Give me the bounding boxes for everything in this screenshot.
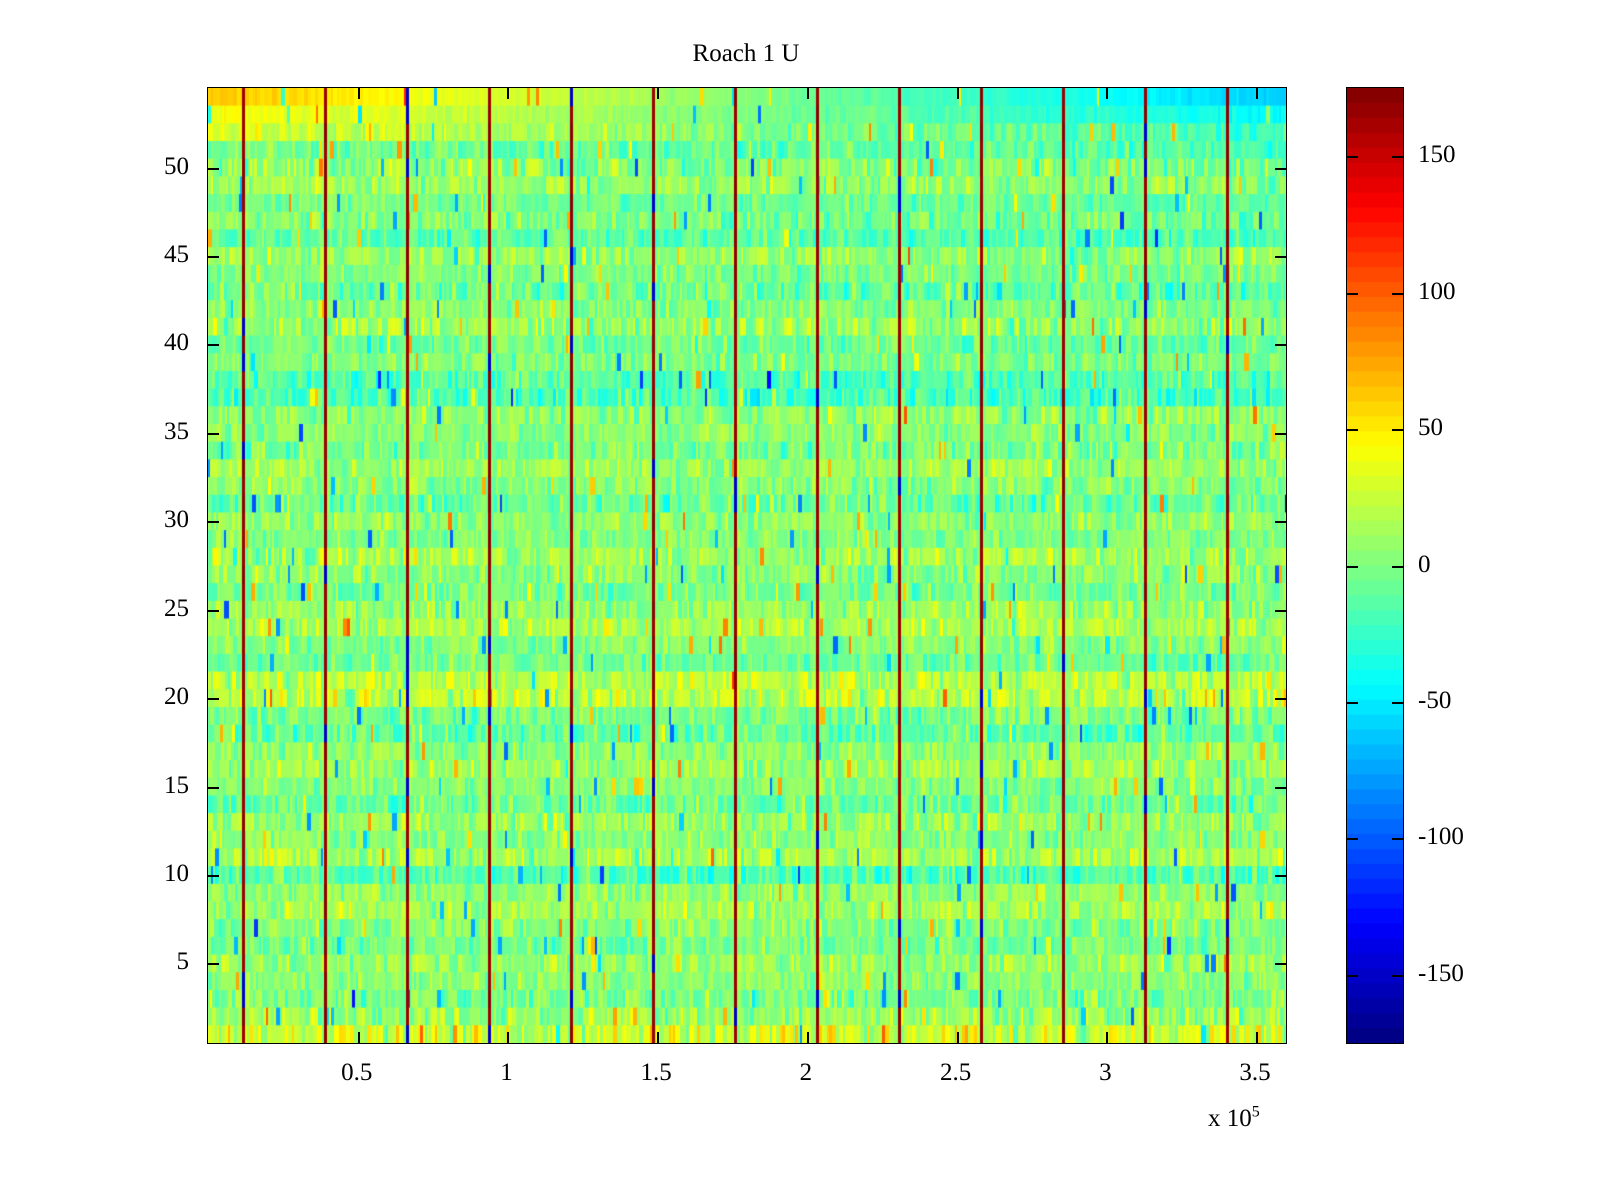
x-tick-mark-top — [807, 88, 809, 99]
y-tick-mark-right — [1275, 610, 1286, 612]
x-tick-mark-top — [358, 88, 360, 99]
x-tick-mark — [957, 1032, 959, 1043]
colorbar-tick-mark-right — [1392, 838, 1403, 840]
colorbar-tick-label: 50 — [1418, 415, 1443, 440]
figure-canvas: Roach 1 U 5101520253035404550 0.511.522.… — [0, 0, 1600, 1200]
colorbar-tick-mark-right — [1392, 566, 1403, 568]
y-tick-mark-right — [1275, 875, 1286, 877]
y-tick-label: 15 — [69, 773, 189, 798]
y-tick-mark-right — [1275, 787, 1286, 789]
y-tick-label: 50 — [69, 154, 189, 179]
x-tick-label: 1 — [446, 1060, 566, 1085]
x-tick-label: 1.5 — [596, 1060, 716, 1085]
colorbar-tick-mark — [1347, 975, 1358, 977]
y-tick-label: 25 — [69, 596, 189, 621]
x-tick-mark — [657, 1032, 659, 1043]
x-tick-label: 2 — [746, 1060, 866, 1085]
colorbar-tick-label: 100 — [1418, 279, 1456, 304]
x-tick-mark-top — [507, 88, 509, 99]
colorbar-tick-mark — [1347, 429, 1358, 431]
y-tick-mark — [208, 521, 219, 523]
colorbar-tick-mark — [1347, 156, 1358, 158]
y-tick-mark-right — [1275, 256, 1286, 258]
colorbar-tick-label: -100 — [1418, 824, 1464, 849]
y-tick-mark-right — [1275, 168, 1286, 170]
y-tick-mark — [208, 875, 219, 877]
x-tick-mark — [358, 1032, 360, 1043]
y-tick-mark — [208, 610, 219, 612]
x-tick-mark-top — [657, 88, 659, 99]
x-tick-mark — [1106, 1032, 1108, 1043]
colorbar-tick-mark-right — [1392, 975, 1403, 977]
colorbar-tick-label: -50 — [1418, 688, 1451, 713]
colorbar-tick-mark-right — [1392, 429, 1403, 431]
y-tick-mark — [208, 698, 219, 700]
colorbar-tick-mark — [1347, 702, 1358, 704]
x-tick-label: 2.5 — [896, 1060, 1016, 1085]
y-tick-label: 30 — [69, 507, 189, 532]
x-tick-mark — [507, 1032, 509, 1043]
x-exponent-base: x 10 — [1208, 1105, 1252, 1132]
y-tick-label: 5 — [69, 949, 189, 974]
colorbar-tick-mark — [1347, 566, 1358, 568]
y-tick-mark — [208, 256, 219, 258]
x-tick-label: 3.5 — [1195, 1060, 1315, 1085]
y-tick-label: 45 — [69, 242, 189, 267]
heatmap-image[interactable] — [208, 88, 1286, 1043]
y-tick-label: 20 — [69, 684, 189, 709]
colorbar[interactable] — [1346, 87, 1404, 1044]
colorbar-tick-mark-right — [1392, 293, 1403, 295]
y-tick-mark — [208, 787, 219, 789]
y-tick-label: 40 — [69, 330, 189, 355]
y-tick-mark — [208, 433, 219, 435]
y-tick-mark — [208, 168, 219, 170]
page-title: Roach 1 U — [207, 40, 1285, 68]
colorbar-tick-mark-right — [1392, 702, 1403, 704]
y-tick-mark-right — [1275, 433, 1286, 435]
colorbar-tick-mark — [1347, 838, 1358, 840]
colorbar-tick-mark-right — [1392, 156, 1403, 158]
x-exponent-power: 5 — [1252, 1104, 1260, 1121]
colorbar-tick-label: 150 — [1418, 142, 1456, 167]
colorbar-tick-label: -150 — [1418, 961, 1464, 986]
x-tick-mark — [807, 1032, 809, 1043]
y-tick-mark-right — [1275, 344, 1286, 346]
x-tick-mark-top — [1106, 88, 1108, 99]
x-tick-label: 0.5 — [297, 1060, 417, 1085]
y-tick-mark — [208, 344, 219, 346]
x-tick-mark — [1256, 1032, 1258, 1043]
x-axis-exponent-label: x 105 — [1208, 1105, 1260, 1133]
x-tick-mark-top — [1256, 88, 1258, 99]
y-tick-mark-right — [1275, 963, 1286, 965]
colorbar-tick-mark — [1347, 293, 1358, 295]
colorbar-tick-label: 0 — [1418, 552, 1431, 577]
y-tick-mark — [208, 963, 219, 965]
y-tick-label: 10 — [69, 861, 189, 886]
heatmap-axes[interactable] — [207, 87, 1287, 1044]
y-tick-mark-right — [1275, 521, 1286, 523]
x-tick-label: 3 — [1045, 1060, 1165, 1085]
y-tick-mark-right — [1275, 698, 1286, 700]
y-tick-label: 35 — [69, 419, 189, 444]
x-tick-mark-top — [957, 88, 959, 99]
